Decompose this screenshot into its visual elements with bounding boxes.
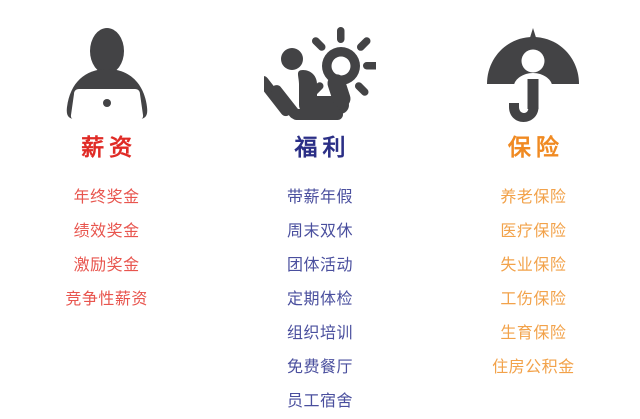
list-item: 绩效奖金 bbox=[74, 215, 140, 249]
list-item: 竞争性薪资 bbox=[65, 283, 148, 317]
list-item: 激励奖金 bbox=[74, 249, 140, 283]
list-item: 医疗保险 bbox=[500, 215, 566, 249]
person-with-laptop-icon bbox=[55, 20, 159, 130]
list-item: 定期体检 bbox=[287, 283, 353, 317]
person-lounging-sun-icon bbox=[264, 20, 376, 130]
column-salary: 薪资 年终奖金 绩效奖金 激励奖金 竞争性薪资 bbox=[0, 0, 213, 317]
column-insurance: 保险 养老保险 医疗保险 失业保险 工伤保险 生育保险 住房公积金 bbox=[427, 0, 640, 385]
benefits-overview-board: 薪资 年终奖金 绩效奖金 激励奖金 竞争性薪资 bbox=[0, 0, 640, 412]
list-item: 养老保险 bbox=[500, 181, 566, 215]
item-list-insurance: 养老保险 医疗保险 失业保险 工伤保险 生育保险 住房公积金 bbox=[427, 181, 640, 385]
item-list-salary: 年终奖金 绩效奖金 激励奖金 竞争性薪资 bbox=[0, 181, 213, 317]
column-title-welfare: 福利 bbox=[289, 136, 350, 159]
column-title-insurance: 保险 bbox=[503, 136, 564, 159]
list-item: 组织培训 bbox=[287, 317, 353, 351]
column-welfare: 福利 带薪年假 周末双休 团体活动 定期体检 组织培训 免费餐厅 员工宿舍 bbox=[213, 0, 426, 419]
list-item: 团体活动 bbox=[287, 249, 353, 283]
item-list-welfare: 带薪年假 周末双休 团体活动 定期体检 组织培训 免费餐厅 员工宿舍 bbox=[213, 181, 426, 419]
list-item: 年终奖金 bbox=[74, 181, 140, 215]
list-item: 住房公积金 bbox=[492, 351, 575, 385]
list-item: 失业保险 bbox=[500, 249, 566, 283]
column-title-salary: 薪资 bbox=[76, 136, 137, 159]
umbrella-person-icon bbox=[481, 20, 585, 130]
list-item: 免费餐厅 bbox=[287, 351, 353, 385]
list-item: 生育保险 bbox=[500, 317, 566, 351]
list-item: 员工宿舍 bbox=[287, 385, 353, 419]
list-item: 工伤保险 bbox=[500, 283, 566, 317]
list-item: 周末双休 bbox=[287, 215, 353, 249]
list-item: 带薪年假 bbox=[287, 181, 353, 215]
